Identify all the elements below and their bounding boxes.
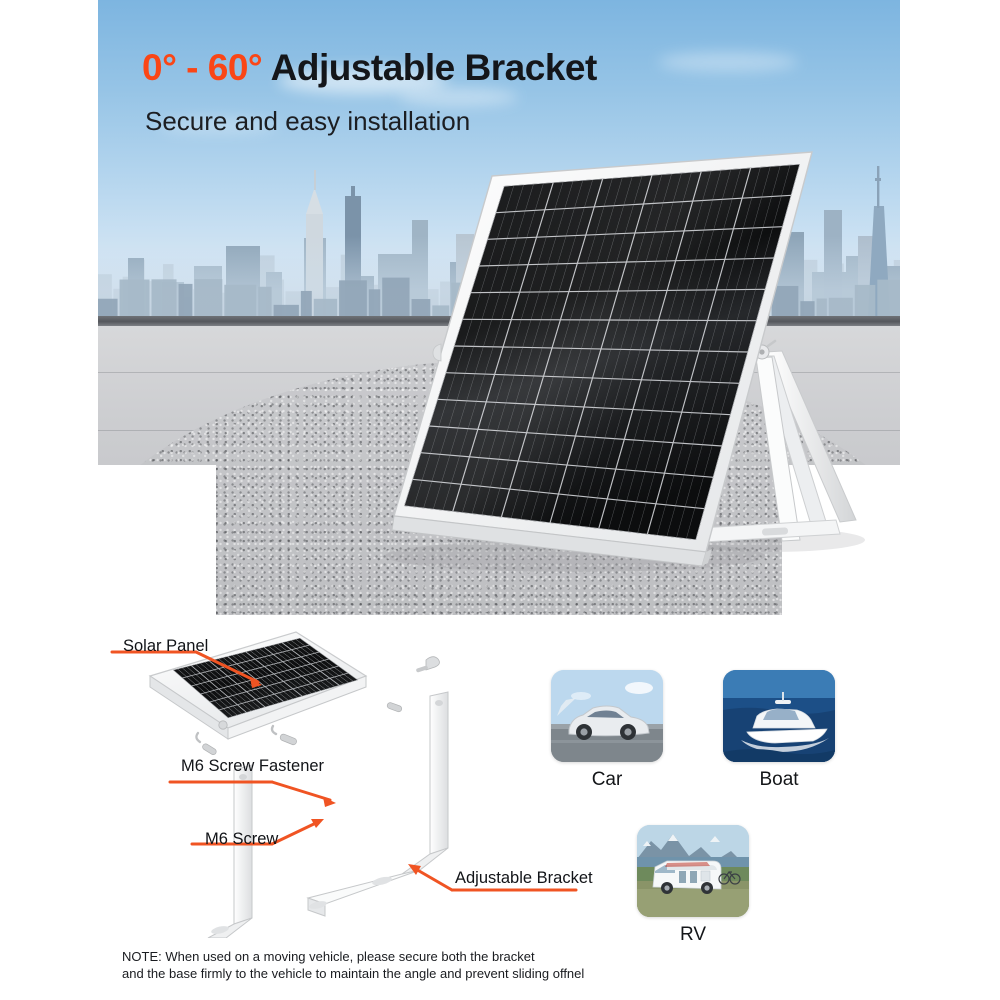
product-feature-page: 0° - 60° Adjustable Bracket Secure and e… xyxy=(0,0,1000,1000)
page-subtitle: Secure and easy installation xyxy=(145,106,470,137)
application-caption-rv: RV xyxy=(637,924,749,946)
note-line-2: and the base firmly to the vehicle to ma… xyxy=(122,965,584,982)
callout-m6-screw: M6 Screw xyxy=(205,830,278,849)
callout-m6-screw-fastener: M6 Screw Fastener xyxy=(181,757,324,776)
angle-range-text: 0° - 60° xyxy=(142,47,262,88)
scene-mask xyxy=(782,465,900,615)
callout-solar-panel: Solar Panel xyxy=(123,637,208,656)
rooftop-parapet xyxy=(98,316,900,326)
page-title: 0° - 60° Adjustable Bracket xyxy=(142,47,597,89)
hero-scene xyxy=(98,0,900,615)
note-line-1: NOTE: When used on a moving vehicle, ple… xyxy=(122,948,584,965)
callout-adjustable-bracket: Adjustable Bracket xyxy=(455,869,593,888)
note-text: NOTE: When used on a moving vehicle, ple… xyxy=(122,948,584,982)
headline-rest-text: Adjustable Bracket xyxy=(262,47,597,88)
scene-mask xyxy=(98,465,216,615)
